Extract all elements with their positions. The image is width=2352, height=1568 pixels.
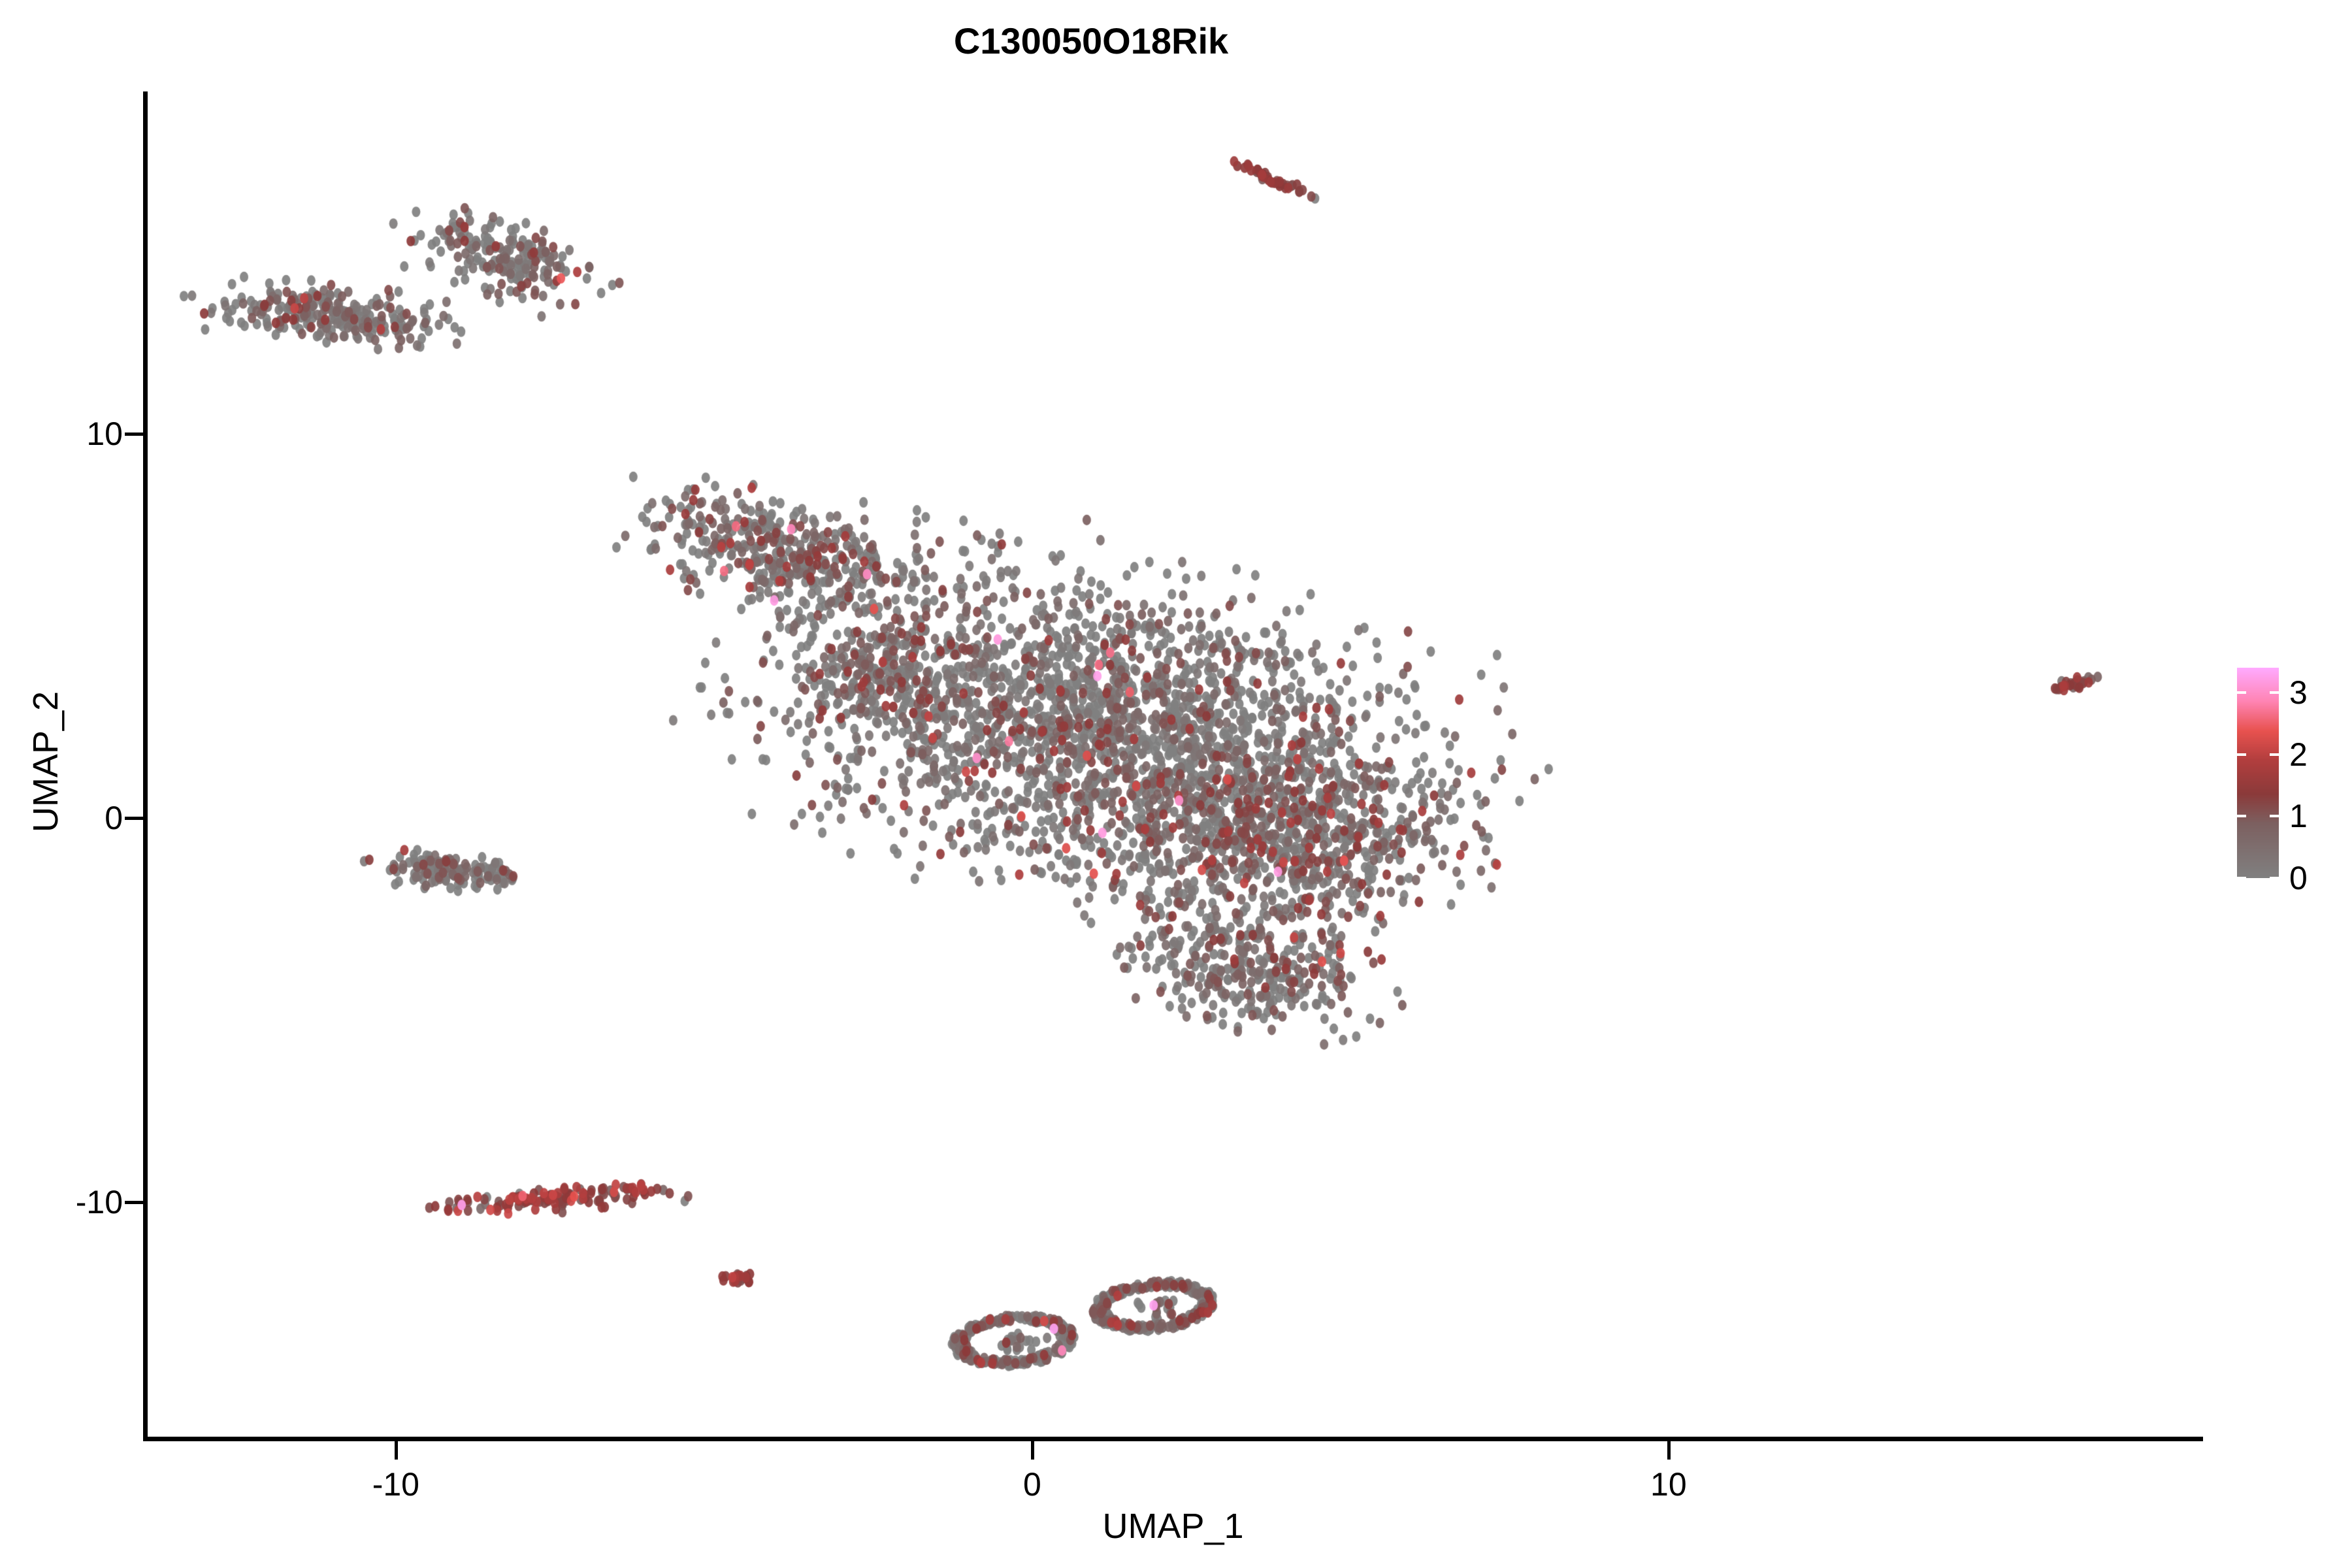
- colorbar-tick-left-2: [2237, 815, 2246, 817]
- colorbar-tick-left-0: [2237, 691, 2246, 694]
- y-tick-1: [125, 817, 143, 820]
- colorbar-gradient: [2237, 668, 2279, 878]
- x-tick-1: [1031, 1441, 1034, 1460]
- colorbar-tick-right-0: [2270, 691, 2279, 694]
- y-tick-0: [125, 433, 143, 436]
- x-axis-title: UMAP_1: [143, 1506, 2203, 1546]
- y-tick-label-2: -10: [76, 1183, 123, 1221]
- x-tick-0: [395, 1441, 398, 1460]
- colorbar-label-2: 1: [2289, 797, 2308, 835]
- y-tick-2: [125, 1201, 143, 1204]
- y-axis-title: UMAP_2: [25, 500, 66, 1023]
- colorbar-tick-left-3: [2237, 877, 2246, 879]
- x-tick-label-0: -10: [372, 1465, 419, 1503]
- colorbar-tick-right-1: [2270, 753, 2279, 756]
- umap-feature-plot: C130050O18Rik -10010 100-10 UMAP_1 UMAP_…: [0, 0, 2352, 1568]
- colorbar-legend: [2237, 668, 2279, 878]
- scatter-plot-panel: [148, 91, 2203, 1437]
- x-tick-label-1: 0: [1023, 1465, 1041, 1503]
- scatter-canvas: [148, 91, 2203, 1437]
- page-title: C130050O18Rik: [0, 20, 2182, 62]
- y-axis-line: [143, 91, 148, 1441]
- x-tick-label-2: 10: [1650, 1465, 1687, 1503]
- colorbar-tick-left-1: [2237, 753, 2246, 756]
- y-tick-label-1: 0: [105, 799, 123, 837]
- colorbar-label-3: 0: [2289, 859, 2308, 897]
- colorbar-tick-right-2: [2270, 815, 2279, 817]
- colorbar-tick-right-3: [2270, 877, 2279, 879]
- y-tick-label-0: 10: [86, 415, 123, 453]
- colorbar-label-0: 3: [2289, 674, 2308, 711]
- x-tick-2: [1667, 1441, 1671, 1460]
- x-axis-line: [143, 1437, 2203, 1441]
- colorbar-label-1: 2: [2289, 736, 2308, 774]
